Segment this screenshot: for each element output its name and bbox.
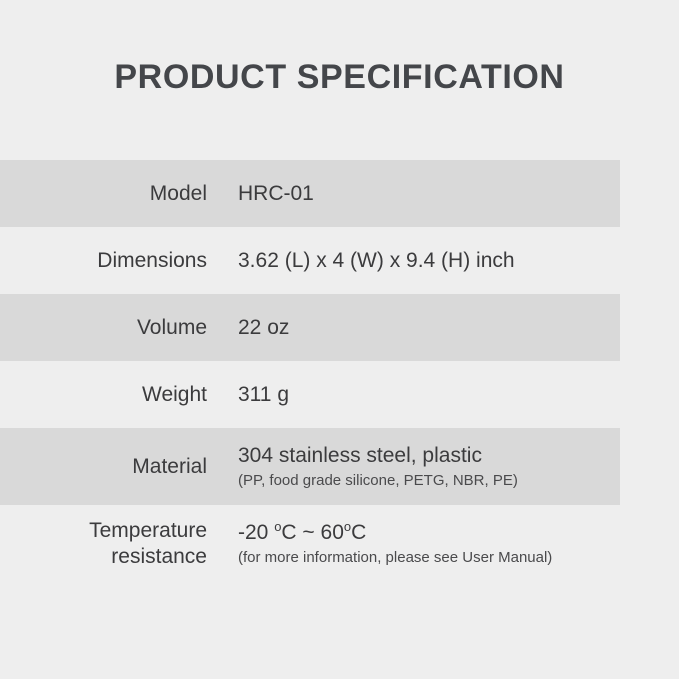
spec-label-temperature-resistance: Temperature resistance — [0, 518, 207, 569]
spec-value-weight: 311 g — [238, 382, 620, 408]
table-row: Weight 311 g — [0, 361, 620, 428]
table-row: Volume 22 oz — [0, 294, 620, 361]
spec-value-volume: 22 oz — [238, 315, 620, 341]
spec-label-temperature-line1: Temperature — [0, 518, 207, 544]
spec-value-temperature-cell: -20 oC ~ 60oC (for more information, ple… — [207, 520, 620, 567]
spec-label-weight: Weight — [0, 382, 207, 408]
spec-value-material-note: (PP, food grade silicone, PETG, NBR, PE) — [238, 471, 620, 491]
table-row: Temperature resistance -20 oC ~ 60oC (fo… — [0, 505, 620, 582]
table-row: Material 304 stainless steel, plastic (P… — [0, 428, 620, 505]
table-row: Model HRC-01 — [0, 160, 620, 227]
spec-value-temperature-note: (for more information, please see User M… — [238, 548, 620, 568]
spec-label-material: Material — [0, 454, 207, 480]
page-title: PRODUCT SPECIFICATION — [0, 58, 679, 97]
spec-label-dimensions: Dimensions — [0, 248, 207, 274]
spec-value-material-cell: 304 stainless steel, plastic (PP, food g… — [207, 443, 620, 490]
spec-value-dimensions-cell: 3.62 (L) x 4 (W) x 9.4 (H) inch — [207, 248, 620, 274]
spec-label-temperature-line2: resistance — [0, 544, 207, 570]
spec-label-volume: Volume — [0, 315, 207, 341]
spec-value-model-cell: HRC-01 — [207, 181, 620, 207]
spec-value-material: 304 stainless steel, plastic — [238, 443, 620, 469]
spec-value-temperature: -20 oC ~ 60oC — [238, 520, 620, 546]
spec-value-temperature-unit: C — [351, 521, 366, 544]
product-specification-page: PRODUCT SPECIFICATION Model HRC-01 Dimen… — [0, 0, 679, 679]
table-row: Dimensions 3.62 (L) x 4 (W) x 9.4 (H) in… — [0, 227, 620, 294]
spec-value-weight-cell: 311 g — [207, 382, 620, 408]
spec-value-temperature-min: -20 — [238, 521, 274, 544]
spec-value-model: HRC-01 — [238, 181, 620, 207]
spec-value-temperature-mid: C ~ 60 — [281, 521, 343, 544]
spec-value-volume-cell: 22 oz — [207, 315, 620, 341]
spec-value-dimensions: 3.62 (L) x 4 (W) x 9.4 (H) inch — [238, 248, 620, 274]
specification-table: Model HRC-01 Dimensions 3.62 (L) x 4 (W)… — [0, 160, 679, 582]
spec-label-model: Model — [0, 181, 207, 207]
